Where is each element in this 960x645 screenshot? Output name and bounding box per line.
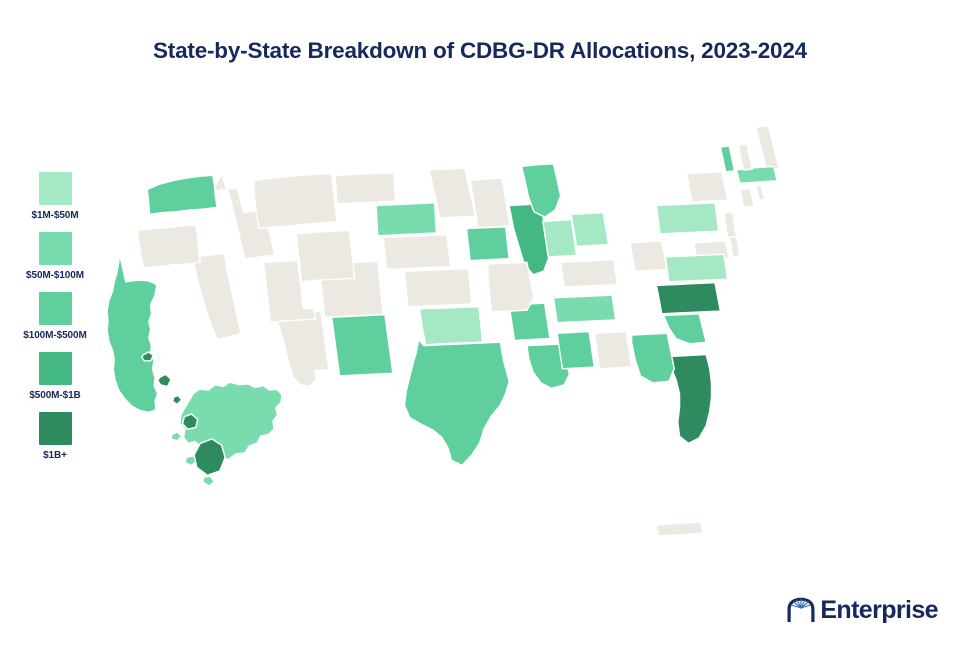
- legend-item[interactable]: $50M-$100M: [0, 232, 110, 281]
- state-ks[interactable]: Kansas — No data: [404, 269, 471, 307]
- state-nv[interactable]: Nevada — No data: [193, 253, 241, 339]
- state-de[interactable]: Delaware — No data: [729, 235, 740, 257]
- state-wi[interactable]: Wisconsin — No data: [470, 178, 510, 228]
- legend-label: $50M-$100M: [26, 270, 84, 281]
- state-nc[interactable]: North Carolina — $1B+: [656, 283, 720, 314]
- state-sc[interactable]: South Carolina — $100M-$500M: [664, 314, 707, 344]
- state-ct[interactable]: Connecticut — No data: [740, 189, 754, 208]
- state-fl[interactable]: Florida — $1B+: [671, 355, 712, 444]
- arch-gateway-icon: [786, 597, 816, 623]
- state-pa[interactable]: Pennsylvania — $1M-$50M: [656, 203, 718, 234]
- state-mo[interactable]: Missouri — No data: [488, 262, 534, 312]
- legend-label: $1B+: [43, 450, 67, 461]
- legend-swatch: [39, 172, 72, 205]
- state-nd[interactable]: North Dakota — No data: [335, 173, 395, 204]
- legend-label: $500M-$1B: [29, 390, 80, 401]
- state-mt[interactable]: Montana — No data: [254, 174, 337, 229]
- state-ri[interactable]: Rhode Island — No data: [756, 185, 765, 200]
- state-ok[interactable]: Oklahoma — $1M-$50M: [420, 307, 483, 345]
- state-in[interactable]: Indiana — $1M-$50M: [543, 220, 577, 257]
- states-layer: Alabama — No dataAlaska — $50M-$100MAriz…: [108, 126, 779, 536]
- state-wv[interactable]: West Virginia — No data: [630, 241, 667, 271]
- state-ia[interactable]: Iowa — $100M-$500M: [467, 227, 510, 261]
- state-va[interactable]: Virginia — $1M-$50M: [665, 254, 727, 282]
- state-or[interactable]: Oregon — No data: [124, 225, 200, 268]
- legend-label: $1M-$50M: [32, 210, 79, 221]
- us-states-svg: Alabama — No dataAlaska — $50M-$100MAriz…: [108, 70, 960, 625]
- map-legend: $1M-$50M $50M-$100M $100M-$500M $500M-$1…: [0, 172, 110, 472]
- legend-item[interactable]: $100M-$500M: [0, 292, 110, 341]
- state-wy[interactable]: Wyoming — No data: [296, 230, 355, 281]
- brand-wordmark: Enterprise: [820, 598, 938, 623]
- state-ny[interactable]: New York — No data: [687, 172, 728, 202]
- state-nm[interactable]: New Mexico — $100M-$500M: [332, 315, 393, 376]
- state-ak[interactable]: Alaska — $50M-$100M: [171, 382, 282, 486]
- state-ga[interactable]: Georgia — $100M-$500M: [632, 333, 675, 383]
- state-ma[interactable]: Massachusetts — $50M-$100M: [736, 166, 777, 183]
- legend-item[interactable]: $500M-$1B: [0, 352, 110, 401]
- legend-swatch: [39, 352, 72, 385]
- state-tx[interactable]: Texas — $100M-$500M: [404, 340, 509, 466]
- state-ne[interactable]: Nebraska — No data: [383, 235, 450, 270]
- page-title: State-by-State Breakdown of CDBG-DR Allo…: [0, 38, 960, 64]
- legend-swatch: [39, 292, 72, 325]
- state-az[interactable]: Arizona — No data: [273, 311, 329, 386]
- state-tn[interactable]: Tennessee — $50M-$100M: [554, 295, 616, 323]
- state-me[interactable]: Maine — No data: [756, 126, 779, 170]
- state-ky[interactable]: Kentucky — No data: [561, 260, 618, 288]
- state-pr[interactable]: Puerto Rico — No data: [656, 522, 702, 535]
- state-wa[interactable]: Washington — $100M-$500M: [147, 175, 217, 214]
- legend-swatch: [39, 232, 72, 265]
- legend-swatch: [39, 412, 72, 445]
- state-nj[interactable]: New Jersey — No data: [724, 212, 736, 238]
- state-ca[interactable]: California — $100M-$500M: [108, 254, 158, 412]
- legend-item[interactable]: $1B+: [0, 412, 110, 461]
- state-oh[interactable]: Ohio — $1M-$50M: [571, 213, 608, 247]
- state-vt[interactable]: Vermont — $100M-$500M: [720, 146, 734, 172]
- legend-label: $100M-$500M: [23, 330, 86, 341]
- state-nh[interactable]: New Hampshire — No data: [738, 144, 752, 170]
- brand-logo: Enterprise: [786, 597, 938, 623]
- state-al[interactable]: Alabama — No data: [594, 332, 631, 369]
- choropleth-map: Alabama — No dataAlaska — $50M-$100MAriz…: [108, 70, 960, 625]
- state-sd[interactable]: South Dakota — $50M-$100M: [376, 203, 436, 236]
- legend-item[interactable]: $1M-$50M: [0, 172, 110, 221]
- state-ms[interactable]: Mississippi — $100M-$500M: [557, 332, 594, 369]
